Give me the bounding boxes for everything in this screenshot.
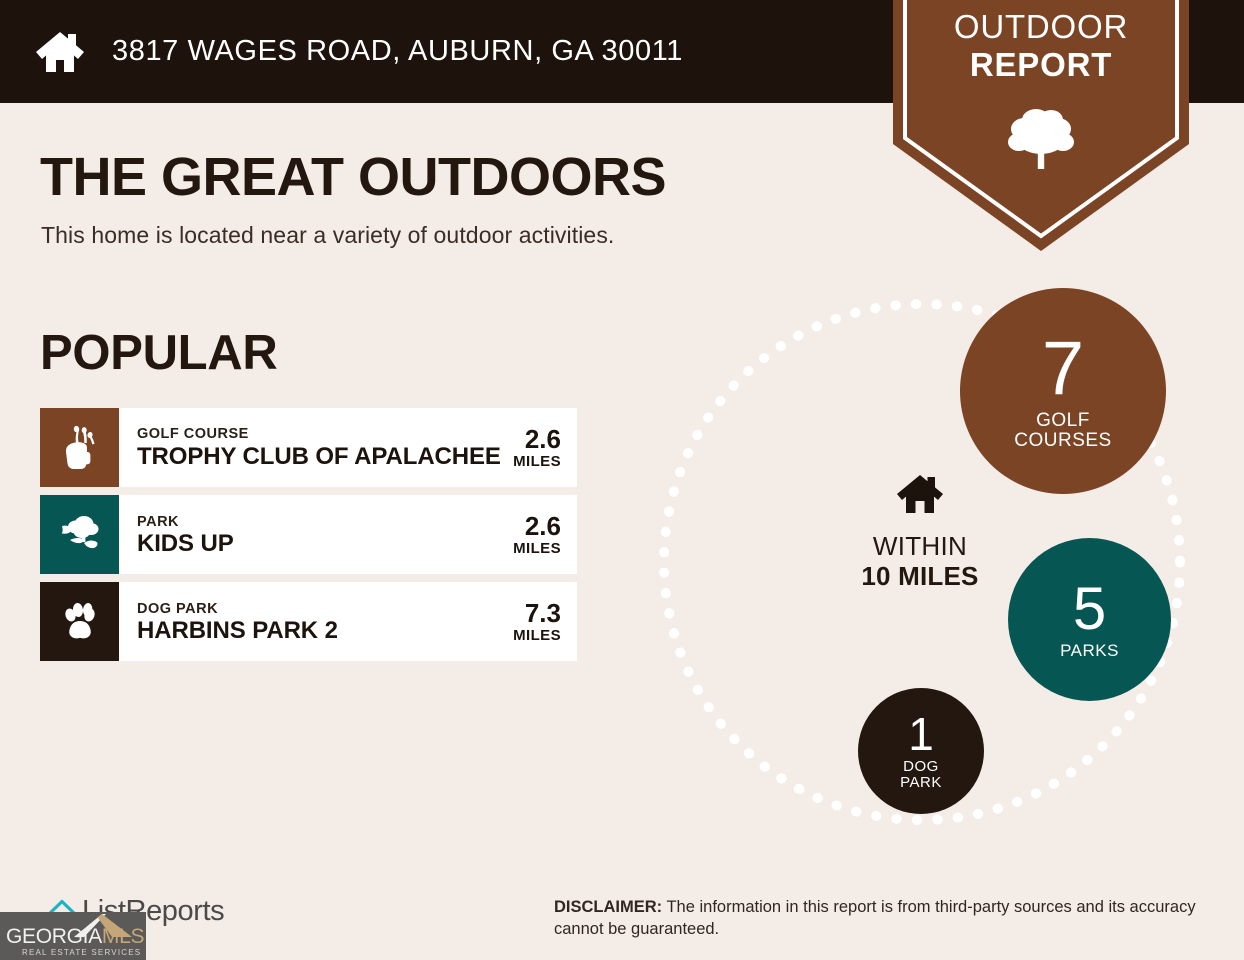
stat-label: DOG PARK	[900, 759, 942, 791]
disclaimer: DISCLAIMER: The information in this repo…	[554, 896, 1209, 940]
mls-text: MLS	[102, 925, 144, 948]
distance-value: 2.6	[525, 425, 561, 453]
list-item-text: GOLF COURSE TROPHY CLUB OF APALACHEE	[119, 408, 513, 487]
stat-value: 1	[908, 711, 934, 757]
stat-label-line1: DOG	[900, 759, 942, 775]
stat-label: PARKS	[1060, 642, 1119, 660]
list-item-category: GOLF COURSE	[137, 425, 513, 443]
stat-label-line2: COURSES	[1014, 431, 1111, 451]
stat-value: 5	[1073, 579, 1106, 639]
property-address: 3817 WAGES ROAD, AUBURN, GA 30011	[112, 35, 683, 68]
georgia-text: GEORGIA	[6, 925, 102, 948]
list-item-text: DOG PARK HARBINS PARK 2	[119, 582, 513, 661]
georgia-mls-watermark: GEORGIAMLS REAL ESTATE SERVICES	[0, 912, 146, 960]
section-title-popular: POPULAR	[40, 325, 277, 381]
golf-bag-icon	[40, 408, 119, 487]
popular-list: GOLF COURSE TROPHY CLUB OF APALACHEE 2.6…	[40, 408, 577, 669]
page-title: THE GREAT OUTDOORS	[40, 146, 666, 208]
list-item-name: KIDS UP	[137, 531, 513, 557]
disclaimer-label: DISCLAIMER:	[554, 898, 662, 916]
amenities-diagram: 7 GOLF COURSES 5 PARKS 1 DOG PARK	[640, 280, 1200, 840]
georgia-mls-tagline: REAL ESTATE SERVICES	[22, 948, 141, 957]
stat-label-line2: PARK	[900, 775, 942, 791]
distance-unit: MILES	[513, 540, 561, 558]
page-subtitle: This home is located near a variety of o…	[41, 222, 614, 249]
stat-circle-golf-courses[interactable]: 7 GOLF COURSES	[960, 288, 1166, 494]
list-item[interactable]: DOG PARK HARBINS PARK 2 7.3 MILES	[40, 582, 577, 661]
distance-unit: MILES	[513, 627, 561, 645]
georgia-mls-wordmark: GEORGIAMLS	[6, 925, 144, 949]
stat-value: 7	[1042, 331, 1084, 407]
diagram-center: WITHIN 10 MILES	[820, 472, 1020, 591]
list-item-category: PARK	[137, 513, 513, 531]
list-item[interactable]: PARK KIDS UP 2.6 MILES	[40, 495, 577, 574]
list-item-distance: 7.3 MILES	[513, 582, 577, 661]
list-item-distance: 2.6 MILES	[513, 495, 577, 574]
list-item-name: TROPHY CLUB OF APALACHEE	[137, 443, 513, 470]
distance-unit: MILES	[513, 453, 561, 471]
list-item-name: HARBINS PARK 2	[137, 618, 513, 644]
home-icon	[820, 472, 1020, 521]
distance-value: 2.6	[525, 512, 561, 540]
stat-circle-dog-park[interactable]: 1 DOG PARK	[858, 688, 984, 814]
center-label-line1: WITHIN	[820, 531, 1020, 561]
stat-label: GOLF COURSES	[1014, 411, 1111, 451]
outdoor-report-page: 3817 WAGES ROAD, AUBURN, GA 30011 OUTDOO…	[0, 0, 1244, 960]
center-label-line2: 10 MILES	[820, 561, 1020, 591]
list-item-distance: 2.6 MILES	[513, 408, 577, 487]
list-item-category: DOG PARK	[137, 600, 513, 618]
stat-circle-parks[interactable]: 5 PARKS	[1008, 538, 1171, 701]
list-item[interactable]: GOLF COURSE TROPHY CLUB OF APALACHEE 2.6…	[40, 408, 577, 487]
stat-label-line1: GOLF	[1014, 411, 1111, 431]
home-icon	[32, 24, 88, 80]
list-item-text: PARK KIDS UP	[119, 495, 513, 574]
outdoor-report-badge: OUTDOOR REPORT	[893, 0, 1189, 251]
paw-print-icon	[40, 582, 119, 661]
stat-label-line1: PARKS	[1060, 642, 1119, 660]
distance-value: 7.3	[525, 599, 561, 627]
park-tree-icon	[40, 495, 119, 574]
